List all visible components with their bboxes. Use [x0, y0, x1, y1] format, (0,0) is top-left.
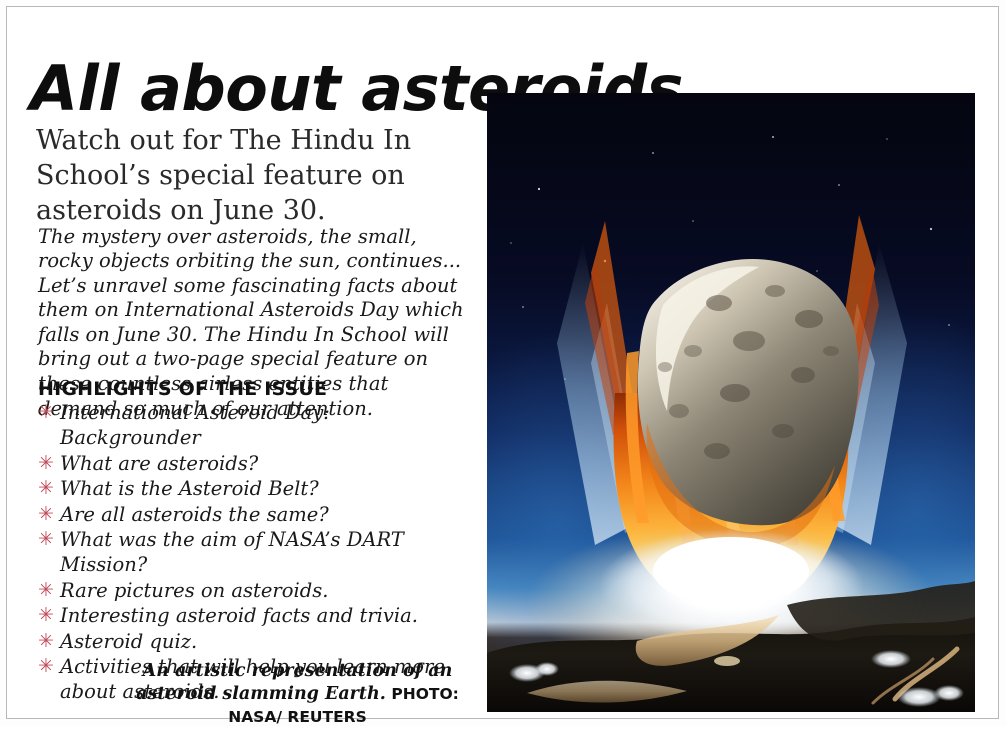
list-item: ✳ Are all asteroids the same?	[38, 502, 468, 527]
list-item: ✳ Asteroid quiz.	[38, 629, 468, 654]
list-item-label: What was the aim of NASA’s DART Mission?	[60, 528, 404, 576]
asterisk-icon: ✳	[38, 451, 54, 476]
asterisk-icon: ✳	[38, 654, 54, 679]
list-item: ✳ What are asteroids?	[38, 451, 468, 476]
list-item: ✳ Rare pictures on asteroids.	[38, 578, 468, 603]
list-item: ✳ International Asteroid Day: Background…	[38, 400, 468, 451]
subhead: Watch out for The Hindu In School’s spec…	[36, 123, 456, 228]
photo-caption: An artistic representation of an asteroi…	[110, 660, 485, 729]
asterisk-icon: ✳	[38, 603, 54, 628]
asterisk-icon: ✳	[38, 502, 54, 527]
list-item: ✳ What was the aim of NASA’s DART Missio…	[38, 527, 468, 578]
list-item-label: What are asteroids?	[60, 452, 258, 475]
list-item-label: What is the Asteroid Belt?	[60, 477, 319, 500]
list-item-label: Rare pictures on asteroids.	[60, 579, 328, 602]
list-item: ✳ Interesting asteroid facts and trivia.	[38, 603, 468, 628]
list-item-label: Interesting asteroid facts and trivia.	[60, 604, 418, 627]
asteroid-impact-photo	[487, 93, 975, 712]
asterisk-icon: ✳	[38, 527, 54, 552]
list-item-label: International Asteroid Day: Backgrounder	[60, 401, 330, 449]
list-item-label: Asteroid quiz.	[60, 630, 197, 653]
asterisk-icon: ✳	[38, 629, 54, 654]
highlights-heading: HIGHLIGHTS OF THE ISSUE	[38, 378, 327, 400]
asterisk-icon: ✳	[38, 400, 54, 425]
newspaper-clipping: All about asteroids Watch out for The Hi…	[0, 0, 1006, 726]
list-item: ✳ What is the Asteroid Belt?	[38, 476, 468, 501]
asterisk-icon: ✳	[38, 476, 54, 501]
asterisk-icon: ✳	[38, 578, 54, 603]
list-item-label: Are all asteroids the same?	[60, 503, 329, 526]
asteroid-impact-illustration	[487, 93, 975, 712]
